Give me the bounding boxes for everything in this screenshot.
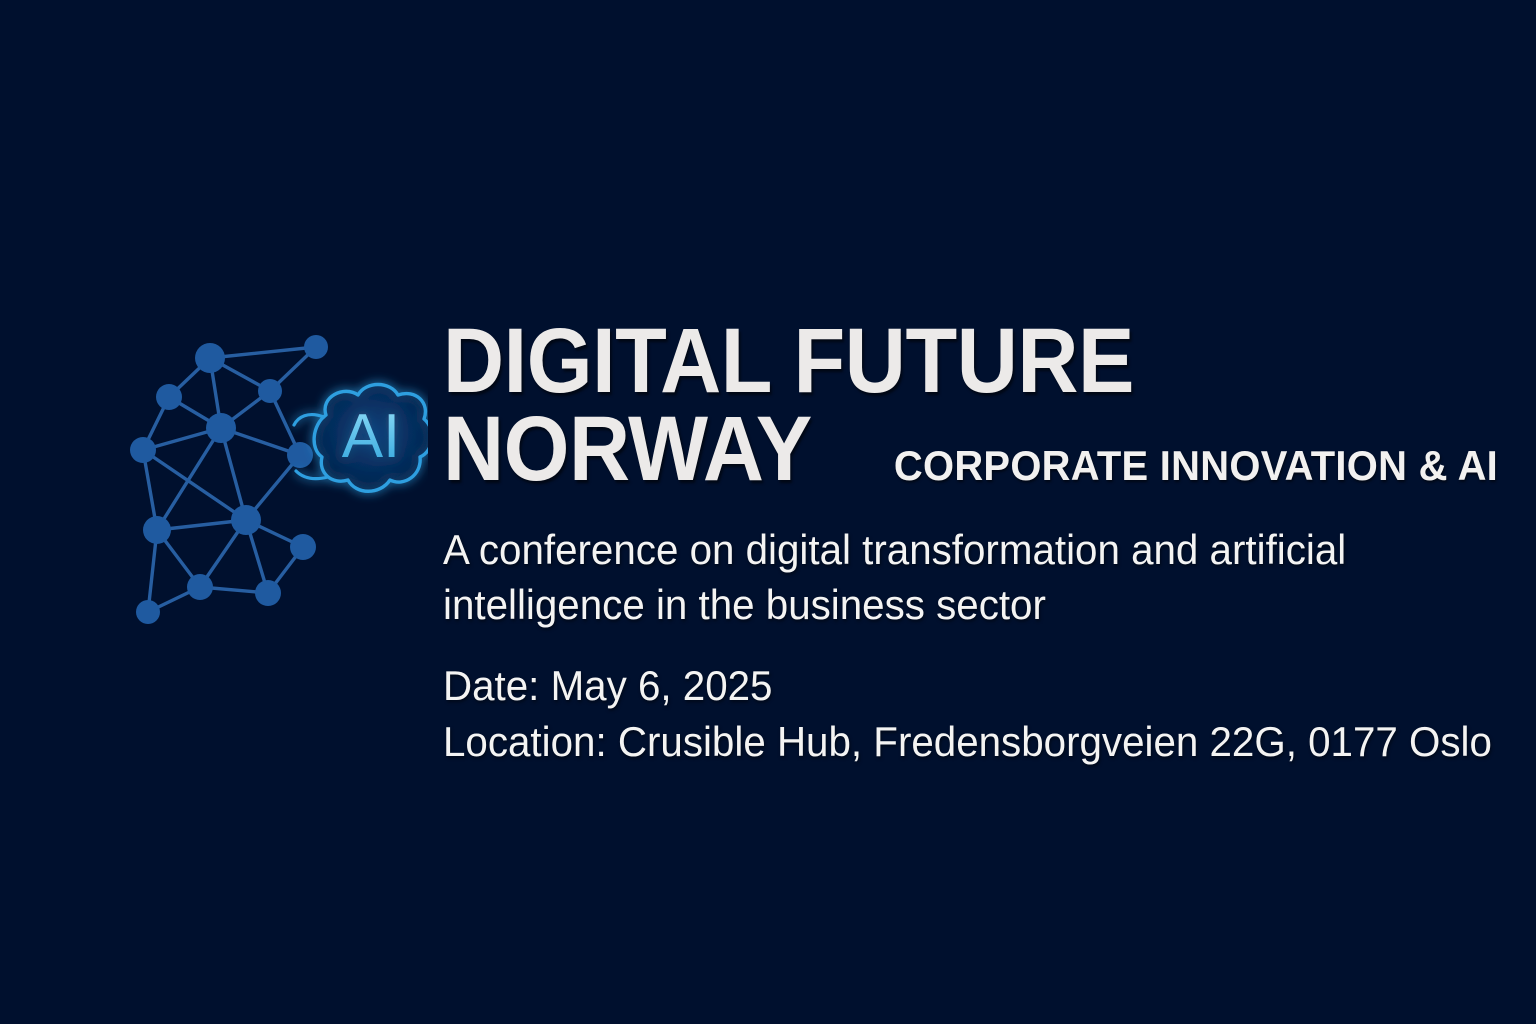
poster-text-block: DIGITAL FUTURE NORWAY CORPORATE INNOVATI… — [443, 318, 1503, 770]
network-node — [304, 335, 328, 359]
network-node — [156, 384, 182, 410]
poster-details: Date: May 6, 2025 Location: Crusible Hub… — [443, 658, 1461, 770]
event-date: Date: May 6, 2025 — [443, 658, 1461, 714]
network-edge — [210, 347, 316, 358]
network-node — [187, 574, 213, 600]
page-title-line-2: NORWAY — [443, 406, 812, 492]
network-node — [206, 413, 236, 443]
poster-description: A conference on digital transformation a… — [443, 523, 1365, 632]
network-node — [255, 580, 281, 606]
network-node — [130, 437, 156, 463]
network-nodes — [130, 335, 328, 624]
event-location: Location: Crusible Hub, Fredensborgveien… — [443, 714, 1461, 770]
title-row-secondary: NORWAY CORPORATE INNOVATION & AI — [443, 406, 1503, 492]
poster-tagline: CORPORATE INNOVATION & AI — [894, 442, 1498, 490]
conference-poster: AI DIGITAL FUTURE NORWAY CORPORATE INNOV… — [0, 0, 1536, 1024]
network-node — [231, 505, 261, 535]
network-node — [136, 600, 160, 624]
network-node — [143, 516, 171, 544]
network-node — [258, 379, 282, 403]
network-node — [290, 534, 316, 560]
ai-cloud-badge: AI — [294, 385, 428, 492]
page-title-line-1: DIGITAL FUTURE — [443, 318, 1418, 404]
neural-network-brain-logo: AI — [118, 325, 428, 635]
network-node — [287, 442, 313, 468]
network-node — [195, 343, 225, 373]
ai-badge-label: AI — [342, 402, 401, 471]
